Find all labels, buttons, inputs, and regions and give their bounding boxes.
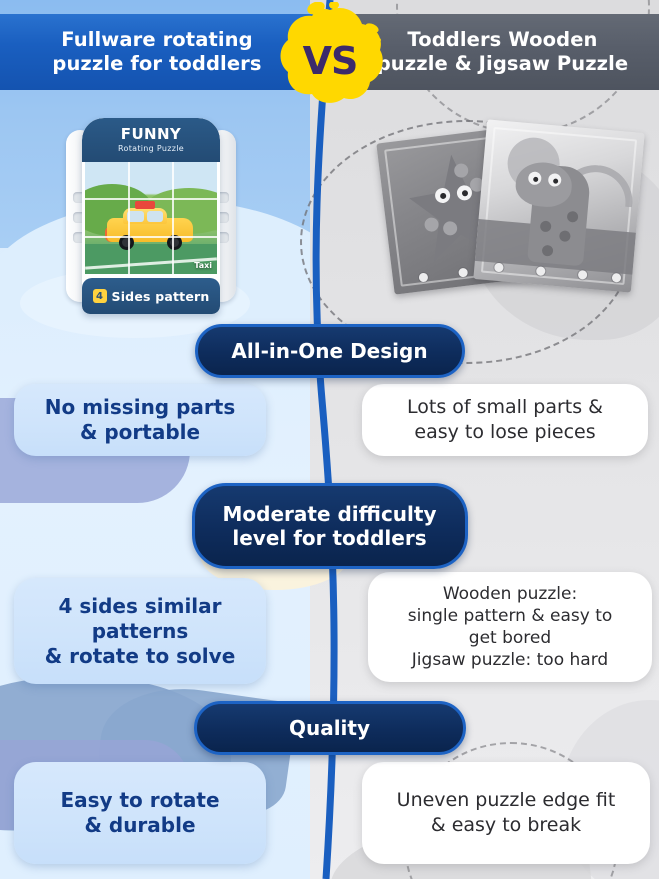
product-card-body: FUNNY Rotating Puzzle bbox=[82, 118, 220, 314]
comparison-left-2: 4 sides similar patterns & rotate to sol… bbox=[14, 578, 266, 684]
sides-label-text: Sides pattern bbox=[112, 289, 210, 304]
product-brand-title: FUNNY bbox=[121, 127, 181, 142]
header-left-title: Fullware rotating puzzle for toddlers bbox=[42, 28, 287, 77]
comparison-right-2: Wooden puzzle: single pattern & easy to … bbox=[368, 572, 652, 682]
comparison-left-3: Easy to rotate & durable bbox=[14, 762, 266, 864]
comparison-title-1: All-in-One Design bbox=[195, 324, 465, 378]
product-brand-header: FUNNY Rotating Puzzle bbox=[82, 118, 220, 162]
product-rotating-puzzle: FUNNY Rotating Puzzle bbox=[72, 118, 230, 316]
product-photo-caption: Taxi bbox=[194, 261, 212, 270]
comparison-title-3: Quality bbox=[194, 701, 466, 755]
vs-text: VS bbox=[272, 2, 388, 106]
vs-badge: VS bbox=[272, 2, 388, 106]
sides-count-badge: 4 bbox=[93, 289, 107, 303]
comparison-right-3: Uneven puzzle edge fit & easy to break bbox=[362, 762, 650, 864]
comparison-title-2: Moderate difficulty level for toddlers bbox=[192, 483, 468, 569]
wooden-puzzle-giraffe bbox=[473, 119, 644, 292]
comparison-left-1: No missing parts & portable bbox=[14, 384, 266, 456]
product-sides-label: 4 Sides pattern bbox=[82, 278, 220, 314]
header-right-title: Toddlers Wooden puzzle & Jigsaw Puzzle bbox=[351, 28, 638, 77]
comparison-right-1: Lots of small parts & easy to lose piece… bbox=[362, 384, 648, 456]
wooden-puzzles-photo bbox=[385, 126, 645, 306]
product-puzzle-image: Taxi bbox=[85, 162, 217, 274]
comparison-infographic: Fullware rotating puzzle for toddlers To… bbox=[0, 0, 659, 879]
puzzle-grid-overlay bbox=[85, 162, 217, 274]
product-brand-subtitle: Rotating Puzzle bbox=[118, 144, 184, 153]
